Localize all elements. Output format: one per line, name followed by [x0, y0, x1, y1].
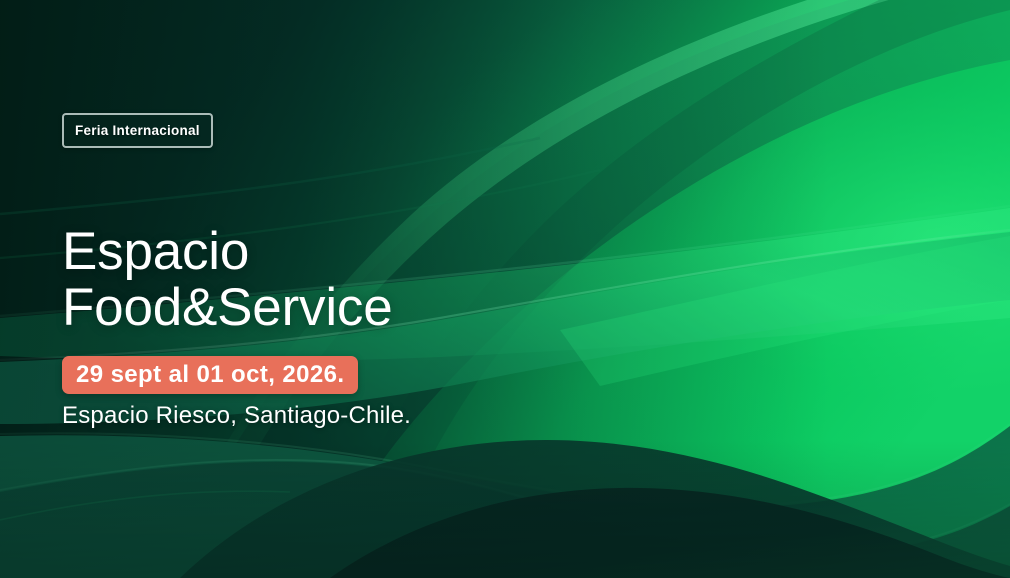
eyebrow-badge-label: Feria Internacional [75, 123, 200, 138]
hero-banner: Feria Internacional Espacio Food&Service… [0, 0, 1010, 578]
page-title: Espacio Food&Service [62, 224, 392, 336]
eyebrow-badge: Feria Internacional [62, 113, 213, 148]
page-title-line-1: Espacio [62, 224, 392, 280]
page-title-line-2: Food&Service [62, 280, 392, 336]
hero-content: Feria Internacional Espacio Food&Service… [62, 0, 582, 578]
event-date-label: 29 sept al 01 oct, 2026. [76, 361, 344, 389]
event-date-badge: 29 sept al 01 oct, 2026. [62, 356, 358, 394]
event-venue-label: Espacio Riesco, Santiago-Chile. [62, 402, 411, 430]
